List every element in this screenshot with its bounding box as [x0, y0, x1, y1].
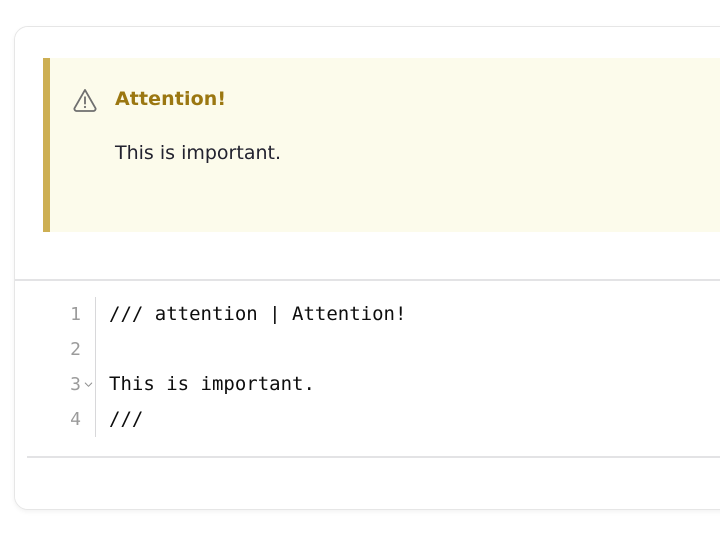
callout-title-row: Attention! — [71, 85, 720, 113]
editor-card: Attention! This is important. 1 /// atte… — [14, 26, 720, 510]
gutter-rule — [95, 332, 96, 367]
code-line-text[interactable]: /// attention | Attention! — [96, 305, 720, 324]
line-number: 1 — [27, 304, 81, 325]
callout-body: Attention! This is important. — [50, 58, 720, 167]
fold-chevron-down-icon[interactable] — [81, 380, 95, 389]
callout-text: This is important. — [115, 141, 720, 167]
code-line-text[interactable]: This is important. — [96, 375, 720, 394]
line-number: 4 — [27, 409, 81, 430]
warning-triangle-icon — [71, 86, 99, 114]
code-line-row[interactable]: 2 — [27, 332, 720, 367]
code-line-text[interactable]: /// — [96, 410, 720, 429]
code-line-row[interactable]: 1 /// attention | Attention! — [27, 297, 720, 332]
preview-pane: Attention! This is important. — [15, 27, 720, 279]
callout-accent-bar — [43, 58, 50, 232]
source-editor-pane[interactable]: 1 /// attention | Attention! 2 3 — [15, 281, 720, 456]
attention-callout: Attention! This is important. — [43, 58, 720, 232]
card-footer — [15, 458, 720, 509]
line-number: 2 — [27, 339, 81, 360]
callout-title: Attention! — [115, 90, 226, 109]
code-rows: 1 /// attention | Attention! 2 3 — [27, 297, 720, 437]
code-line-row[interactable]: 3 This is important. — [27, 367, 720, 402]
line-number: 3 — [27, 374, 81, 395]
screenshot-viewport: Attention! This is important. 1 /// atte… — [0, 0, 720, 544]
code-line-row[interactable]: 4 /// — [27, 402, 720, 437]
